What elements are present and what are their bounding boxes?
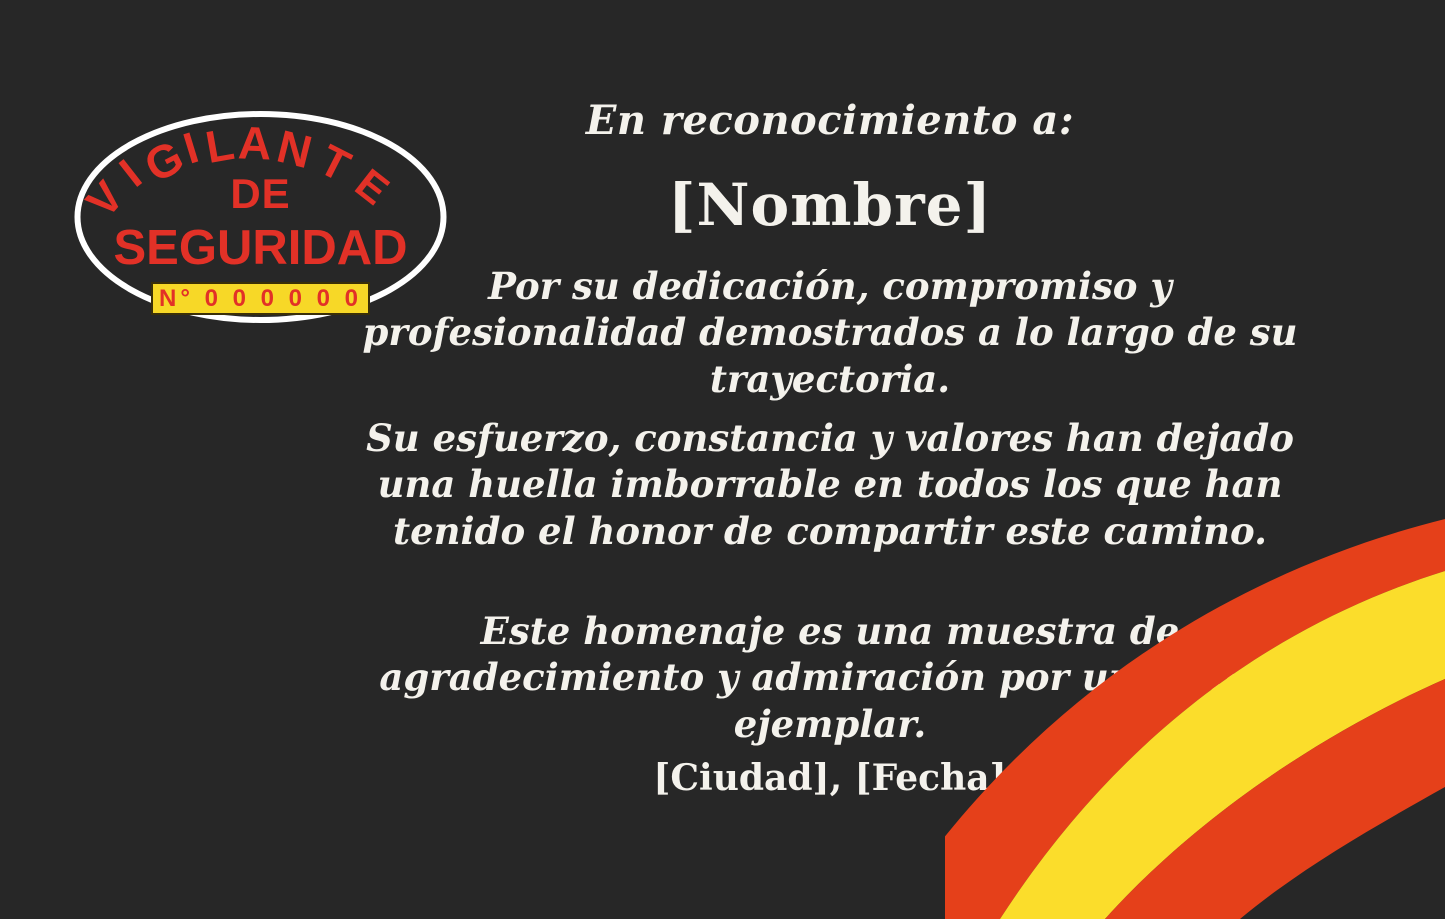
badge-number-plate: N° 0 0 0 0 0 0 <box>151 282 370 315</box>
paragraph-effort: Su esfuerzo, constancia y valores han de… <box>355 415 1305 554</box>
certificate-canvas: V I G I L A N T E DE SEGURIDAD N° 0 0 0 … <box>0 0 1445 919</box>
badge-number-text: N° 0 0 0 0 0 0 <box>159 285 362 313</box>
honoree-name-placeholder: [Nombre] <box>355 172 1305 239</box>
paragraph-dedication: Por su dedicación, compromiso y profesio… <box>355 263 1305 402</box>
place-and-date-placeholder: [Ciudad], [Fecha] <box>355 757 1305 800</box>
heading-recognition: En reconocimiento a: <box>355 98 1305 144</box>
badge-arc-letter-5: A <box>237 119 272 166</box>
paragraph-tribute: Este homenaje es una muestra de agradeci… <box>355 608 1305 747</box>
